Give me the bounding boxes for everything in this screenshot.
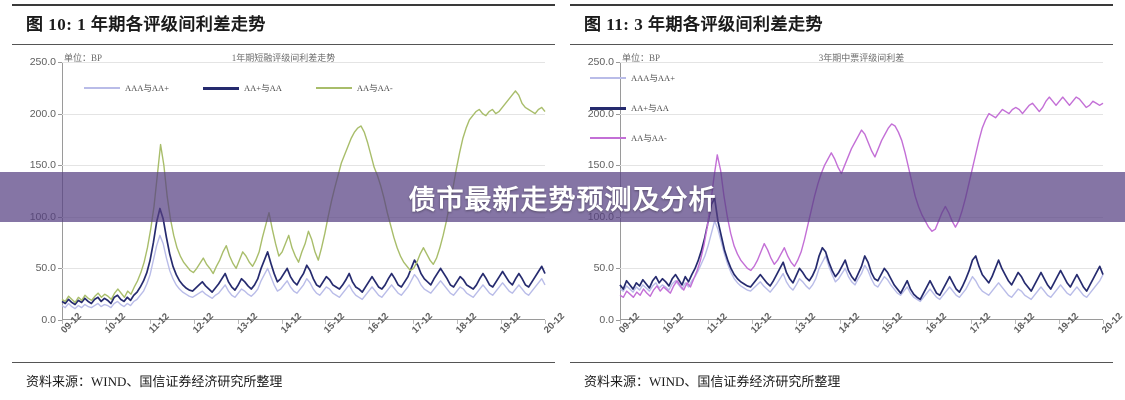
y-axis-tick-label: 50.0	[570, 262, 614, 274]
figure-panel-10: 图 10: 1 年期各评级间利差走势 单位：BP 1年期短融评级间利差走势 0.…	[12, 0, 555, 400]
y-axis-tick-label: 200.0	[12, 108, 56, 120]
source-top-rule	[570, 362, 1113, 363]
y-axis-tick-label: 0.0	[12, 314, 56, 326]
legend-swatch-icon	[590, 107, 626, 110]
y-axis-tick-label: 250.0	[570, 56, 614, 68]
legend-item[interactable]: AAA与AA+	[84, 82, 169, 94]
figure-panel-11: 图 11: 3 年期各评级间利差走势 单位：BP 3年期中票评级间利差 0.05…	[570, 0, 1113, 400]
chart-canvas-10: 单位：BP 1年期短融评级间利差走势 0.050.0100.0150.0200.…	[12, 48, 555, 358]
y-axis-tick-label: 50.0	[12, 262, 56, 274]
legend-item[interactable]: AA+与AA	[590, 102, 675, 114]
y-axis-tick-label: 0.0	[570, 314, 614, 326]
legend-swatch-icon	[316, 87, 352, 89]
y-axis-tick-label: 100.0	[12, 211, 56, 223]
legend-item[interactable]: AA与AA-	[316, 82, 393, 94]
y-axis-tick-label: 250.0	[12, 56, 56, 68]
source-top-rule	[12, 362, 555, 363]
chart-canvas-11: 单位：BP 3年期中票评级间利差 0.050.0100.0150.0200.02…	[570, 48, 1113, 358]
panel-top-rule	[570, 4, 1113, 6]
source-note: 资料来源：WIND、国信证券经济研究所整理	[26, 372, 551, 392]
x-axis-tick-label: 20-12	[542, 311, 567, 336]
legend-item[interactable]: AA与AA-	[590, 132, 675, 144]
legend-label: AA与AA-	[631, 132, 667, 144]
y-axis-tick-label: 150.0	[12, 159, 56, 171]
series-layer	[62, 62, 545, 320]
x-axis-tick-label: 20-12	[1100, 311, 1125, 336]
legend-label: AAA与AA+	[631, 72, 675, 84]
legend-swatch-icon	[203, 87, 239, 90]
title-underline-rule	[12, 44, 555, 45]
y-axis-tick-label: 150.0	[570, 159, 614, 171]
legend-label: AA+与AA	[631, 102, 669, 114]
legend-label: AA与AA-	[357, 82, 393, 94]
panel-top-rule	[12, 4, 555, 6]
title-underline-rule	[570, 44, 1113, 45]
legend-item[interactable]: AAA与AA+	[590, 72, 675, 84]
legend-swatch-icon	[590, 137, 626, 139]
series-line	[620, 198, 1103, 299]
plot-area	[62, 62, 545, 320]
series-layer	[620, 62, 1103, 320]
legend-label: AA+与AA	[244, 82, 282, 94]
legend[interactable]: AAA与AA+AA+与AAAA与AA-	[590, 72, 675, 144]
legend-swatch-icon	[590, 77, 626, 79]
plot-area	[620, 62, 1103, 320]
legend[interactable]: AAA与AA+AA+与AAAA与AA-	[84, 82, 393, 94]
series-line	[62, 209, 545, 305]
legend-swatch-icon	[84, 87, 120, 89]
figure-title: 图 10: 1 年期各评级间利差走势	[26, 9, 551, 41]
series-line	[62, 91, 545, 303]
legend-label: AAA与AA+	[125, 82, 169, 94]
legend-item[interactable]: AA+与AA	[203, 82, 282, 94]
figure-title: 图 11: 3 年期各评级间利差走势	[584, 9, 1109, 41]
source-note: 资料来源：WIND、国信证券经济研究所整理	[584, 372, 1109, 392]
y-axis-tick-label: 100.0	[570, 211, 614, 223]
figure-page: 图 10: 1 年期各评级间利差走势 单位：BP 1年期短融评级间利差走势 0.…	[0, 0, 1125, 400]
